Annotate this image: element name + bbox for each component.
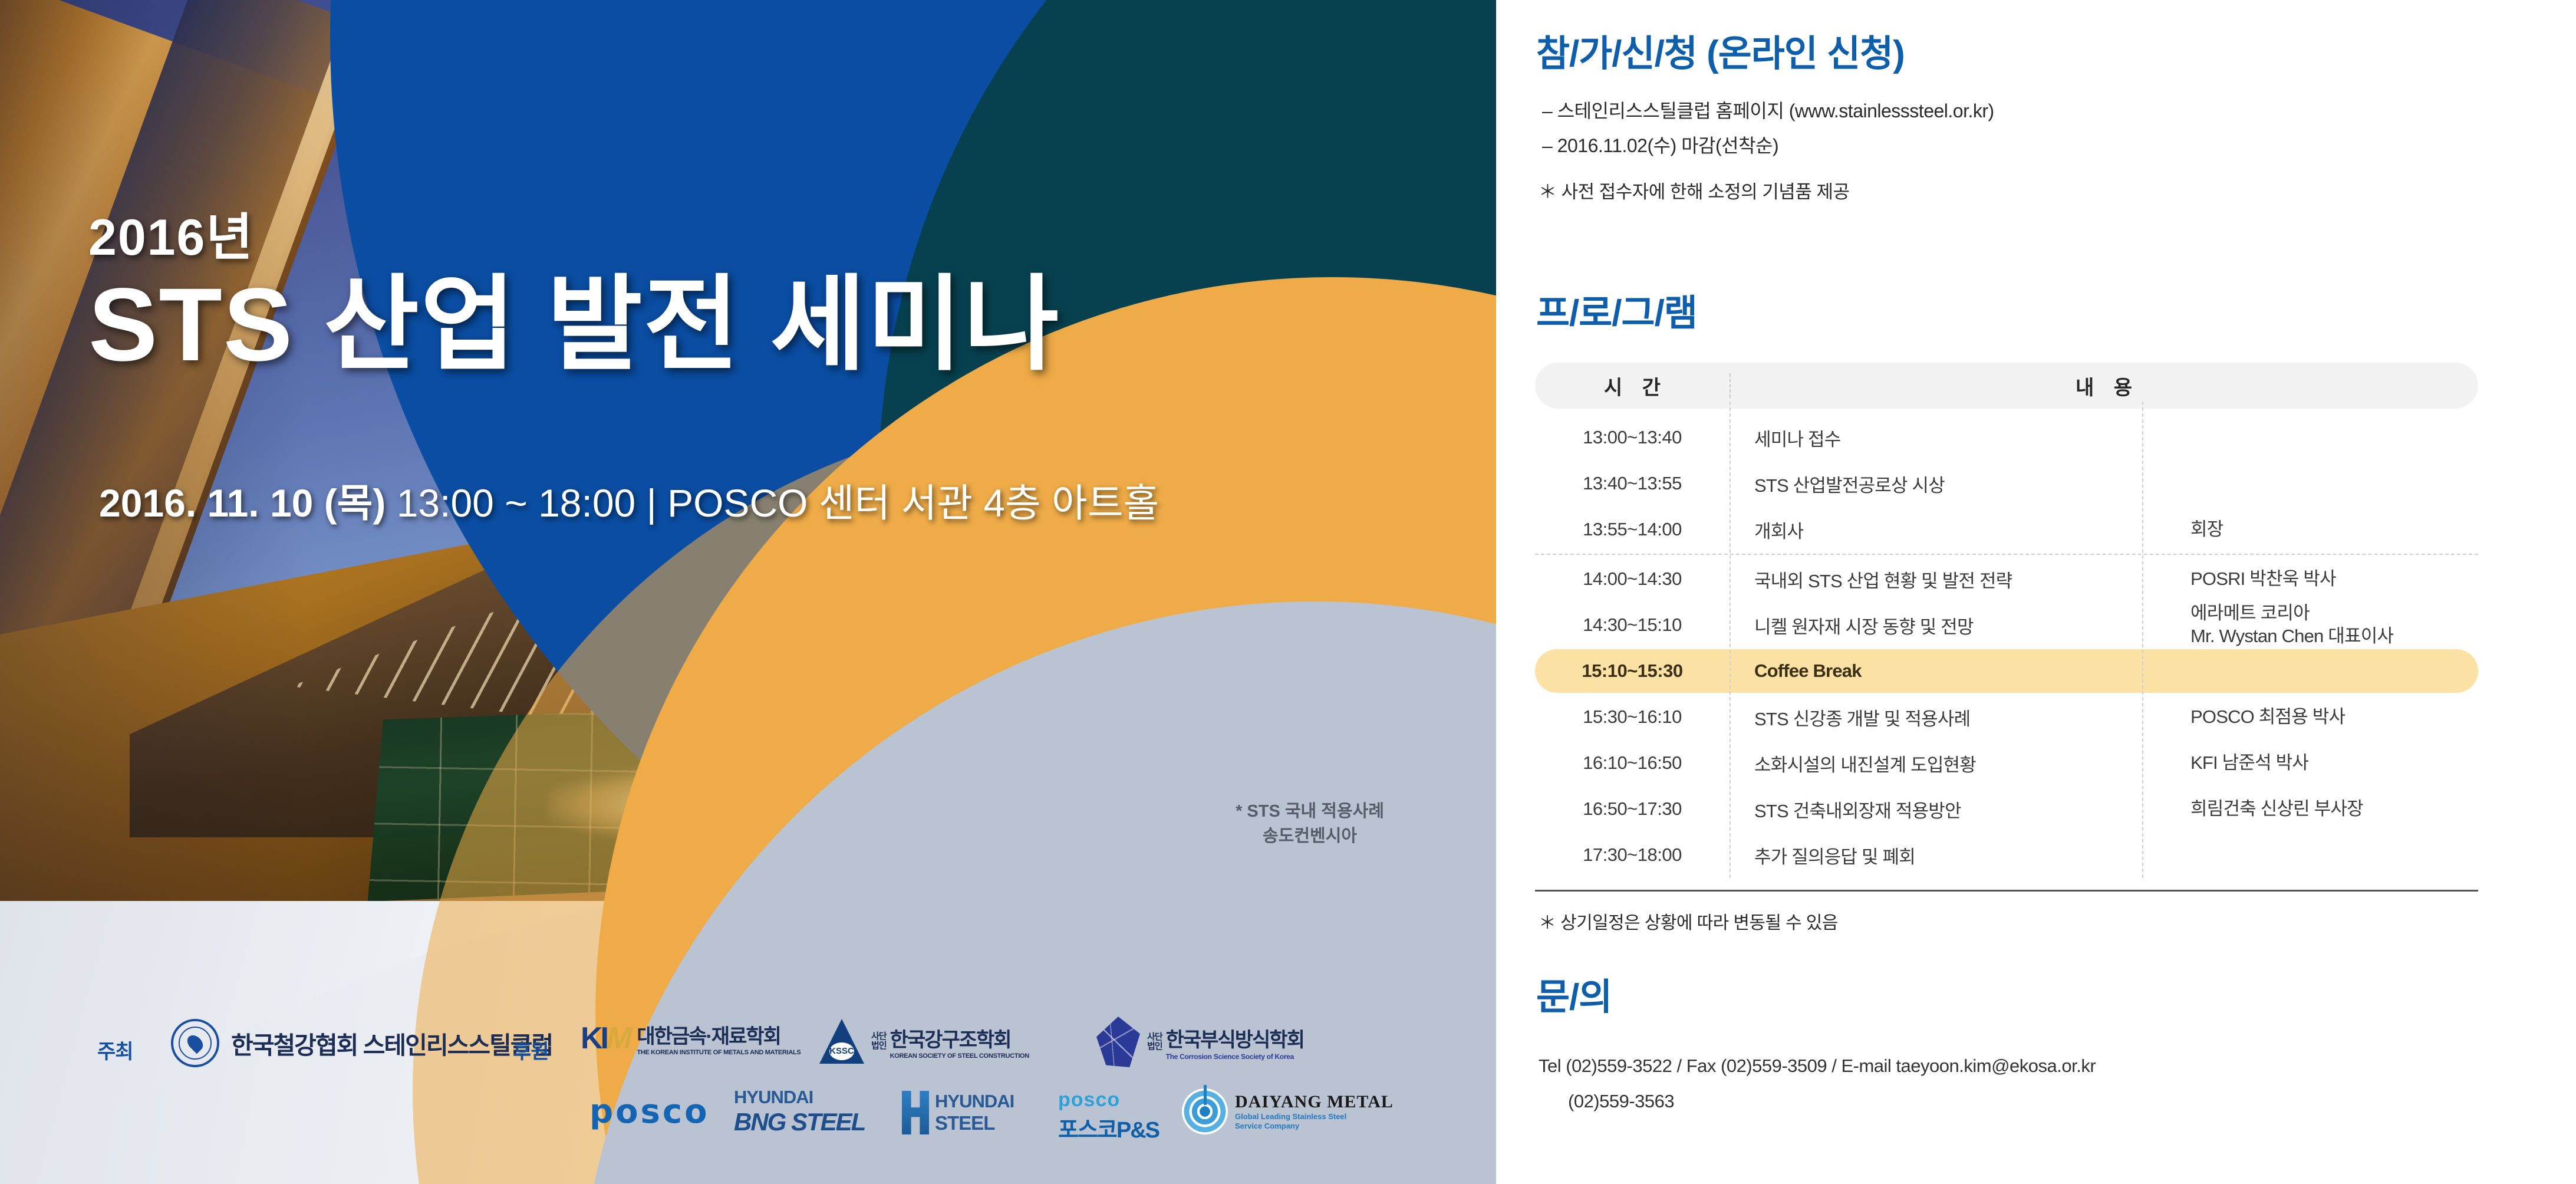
sponsor-strip: 주최 한국철강협회 스테인리스스틸클럽 후원 KIM 대한금속·재료학회 THE…: [0, 989, 1496, 1184]
table-row: 14:30~15:10니켈 원자재 시장 동향 및 전망에라메트 코리아Mr. …: [1535, 602, 2478, 648]
col-header-content: 내 용: [1730, 371, 2478, 400]
ksa-seal-icon: [171, 1019, 219, 1067]
cssk-diamond-icon: [1096, 1017, 1140, 1067]
posco-wordmark: posco: [589, 1093, 710, 1131]
posco-pns-bottom: 포스코P&S: [1058, 1111, 1159, 1144]
daiyang-sub2: Service Company: [1235, 1121, 1394, 1131]
title-block: 2016년 STS 산업 발전 세미나: [88, 212, 1444, 379]
logo-kim: KIM 대한금속·재료학회 THE KOREAN INSTITUTE OF ME…: [581, 1020, 801, 1056]
hyundai-steel-top: HYUNDAI: [935, 1091, 1014, 1112]
row-separator: [1535, 554, 2478, 555]
cell-time: 14:00~14:30: [1535, 568, 1730, 590]
cell-speaker: POSRI 박찬욱 박사: [2167, 568, 2478, 591]
kssc-name-ko: 한국강구조학회: [890, 1024, 1029, 1053]
logo-kssc: KSSC 사단법인 한국강구조학회 KOREAN SOCIETY OF STEE…: [819, 1019, 1029, 1064]
event-year: 2016년: [88, 212, 1444, 263]
bng-steel-wordmark: BNG STEEL: [734, 1108, 865, 1136]
kssc-prefix: 사단법인: [871, 1032, 887, 1051]
contact-line-secondary: (02)559-3563: [1568, 1091, 1674, 1112]
table-bottom-rule: [1535, 890, 2478, 892]
photo-caption-line1: * STS 국내 적용사례: [1236, 799, 1384, 824]
apply-bullet-website: – 스테인리스스틸클럽 홈페이지 (www.stainlesssteel.or.…: [1542, 96, 1994, 123]
cell-subject: 추가 질의응답 및 폐회: [1730, 842, 2167, 869]
table-row: 13:40~13:55STS 산업발전공로상 시상: [1535, 461, 2478, 507]
apply-note-gift: ＊ 사전 접수자에 한해 소정의 기념품 제공: [1539, 177, 1850, 203]
posco-pns-top: posco: [1058, 1088, 1159, 1111]
event-time-venue: 13:00 ~ 18:00 | POSCO 센터 서관 4층 아트홀: [397, 481, 1159, 525]
cssk-name-en: The Corrosion Science Society of Korea: [1166, 1053, 1304, 1061]
cell-time: 15:30~16:10: [1535, 706, 1730, 728]
table-row: 16:50~17:30STS 건축내외장재 적용방안희림건축 신상린 부사장: [1535, 786, 2478, 832]
host-label: 주최: [97, 1035, 133, 1064]
logo-stainless-steel-club: 한국철강협회 스테인리스스틸클럽: [171, 1019, 552, 1067]
poster-root: 2016년 STS 산업 발전 세미나 2016. 11. 10 (목) 13:…: [0, 0, 2576, 1184]
event-date-venue: 2016. 11. 10 (목) 13:00 ~ 18:00 | POSCO 센…: [99, 472, 1159, 528]
left-visual-panel: 2016년 STS 산업 발전 세미나 2016. 11. 10 (목) 13:…: [0, 0, 1496, 1184]
table-row: 15:30~16:10STS 신강종 개발 및 적용사례POSCO 최점용 박사: [1535, 694, 2478, 740]
cell-subject: STS 신강종 개발 및 적용사례: [1730, 704, 2167, 731]
cell-subject: 세미나 접수: [1730, 425, 2167, 451]
logo-bng-steel: HYUNDAI BNG STEEL: [734, 1087, 865, 1136]
daiyang-name: DAIYANG METAL: [1235, 1092, 1394, 1112]
kssc-triangle-icon: KSSC: [819, 1019, 864, 1064]
cssk-name-ko: 한국부식방식학회: [1166, 1024, 1304, 1053]
seal-drop-icon: [185, 1032, 206, 1054]
contact-line-primary: Tel (02)559-3522 / Fax (02)559-3509 / E-…: [1539, 1055, 2096, 1077]
table-row: 15:10~15:30Coffee Break: [1535, 648, 2478, 694]
photo-caption-line2: 송도컨벤시아: [1236, 824, 1384, 848]
program-heading: 프/로/그/램: [1536, 283, 1697, 336]
logo-posco: posco: [589, 1093, 710, 1131]
cell-subject: STS 건축내외장재 적용방안: [1730, 796, 2167, 823]
cell-time: 13:40~13:55: [1535, 473, 1730, 494]
hyundai-steel-bottom: STEEL: [935, 1112, 1014, 1134]
cell-time: 16:50~17:30: [1535, 798, 1730, 820]
kim-name-en: THE KOREAN INSTITUTE OF METALS AND MATER…: [637, 1049, 801, 1056]
hyundai-steel-h-icon: [902, 1091, 929, 1134]
bng-hyundai-top: HYUNDAI: [734, 1087, 865, 1108]
daiyang-sub1: Global Leading Stainless Steel: [1235, 1112, 1394, 1121]
cell-speaker: POSCO 최점용 박사: [2167, 706, 2478, 729]
right-info-panel: 참/가/신/청 (온라인 신청) – 스테인리스스틸클럽 홈페이지 (www.s…: [1496, 0, 2576, 1184]
cell-speaker: 에라메트 코리아Mr. Wystan Chen 대표이사: [2167, 602, 2478, 648]
table-row: 16:10~16:50소화시설의 내진설계 도입현황KFI 남준석 박사: [1535, 740, 2478, 786]
cell-time: 14:30~15:10: [1535, 614, 1730, 636]
table-row: 13:55~14:00개회사회장: [1535, 507, 2478, 552]
cell-subject: 국내외 STS 산업 현황 및 발전 전략: [1730, 566, 2167, 593]
cell-time: 13:00~13:40: [1535, 427, 1730, 448]
sponsor-label: 후원: [513, 1035, 549, 1064]
cell-subject: STS 산업발전공로상 시상: [1730, 471, 2167, 497]
cell-speaker: KFI 남준석 박사: [2167, 752, 2478, 775]
cell-speaker: 희림건축 신상린 부사장: [2167, 798, 2478, 821]
logo-daiyang-metal: DAIYANG METAL Global Leading Stainless S…: [1182, 1088, 1394, 1134]
event-title: STS 산업 발전 세미나: [88, 271, 1444, 379]
cell-time: 17:30~18:00: [1535, 844, 1730, 866]
event-date: 2016. 11. 10 (목): [99, 481, 386, 525]
table-row: 17:30~18:00추가 질의응답 및 폐회: [1535, 832, 2478, 878]
table-footnote: ＊ 상기일정은 상황에 따라 변동될 수 있음: [1539, 908, 1838, 934]
col-header-time: 시 간: [1535, 371, 1730, 400]
cell-speaker: 회장: [2167, 518, 2478, 541]
kssc-name-en: KOREAN SOCIETY OF STEEL CONSTRUCTION: [890, 1053, 1029, 1060]
logo-posco-pns: posco 포스코P&S: [1058, 1088, 1159, 1144]
logo-hyundai-steel: HYUNDAI STEEL: [902, 1091, 1014, 1134]
apply-bullet-deadline: – 2016.11.02(수) 마감(선착순): [1542, 131, 1778, 158]
apply-heading: 참/가/신/청 (온라인 신청): [1536, 24, 1905, 77]
cell-time: 13:55~14:00: [1535, 519, 1730, 540]
program-table: 시 간 내 용 13:00~13:40세미나 접수13:40~13:55STS …: [1535, 363, 2478, 892]
table-body: 13:00~13:40세미나 접수13:40~13:55STS 산업발전공로상 …: [1535, 409, 2478, 878]
kim-mark-icon: KIM: [581, 1021, 630, 1056]
cssk-prefix: 사단법인: [1147, 1032, 1162, 1051]
logo-corrosion-science-society: 사단법인 한국부식방식학회 The Corrosion Science Soci…: [1096, 1017, 1304, 1067]
table-header-row: 시 간 내 용: [1535, 363, 2478, 409]
header-column-divider: [1730, 373, 1731, 398]
cell-subject: 개회사: [1730, 517, 2167, 543]
photo-caption: * STS 국내 적용사례 송도컨벤시아: [1236, 799, 1384, 848]
cell-subject: Coffee Break: [1730, 660, 2167, 682]
kim-name-ko: 대한금속·재료학회: [637, 1020, 801, 1049]
cell-subject: 소화시설의 내진설계 도입현황: [1730, 750, 2167, 777]
contact-heading: 문/의: [1536, 967, 1612, 1020]
host-name: 한국철강협회 스테인리스스틸클럽: [231, 1025, 552, 1061]
daiyang-target-icon: [1182, 1088, 1228, 1134]
cell-time: 16:10~16:50: [1535, 752, 1730, 774]
table-row: 14:00~14:30국내외 STS 산업 현황 및 발전 전략POSRI 박찬…: [1535, 556, 2478, 602]
cell-time: 15:10~15:30: [1535, 660, 1730, 682]
table-row: 13:00~13:40세미나 접수: [1535, 415, 2478, 461]
cell-subject: 니켈 원자재 시장 동향 및 전망: [1730, 612, 2167, 639]
